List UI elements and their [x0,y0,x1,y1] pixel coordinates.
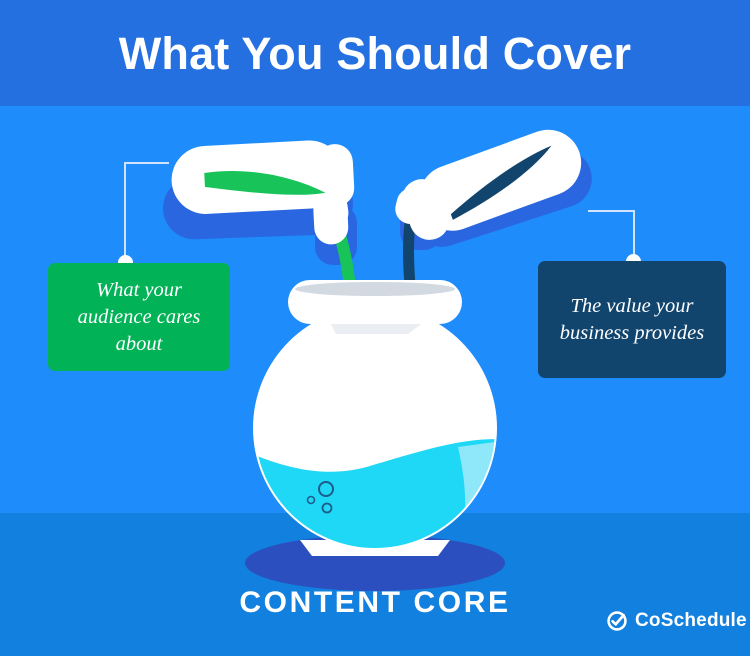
callout-business-value-label: The value your business provides [550,293,714,347]
callout-business-value[interactable]: The value your business provides [538,261,726,378]
connector-right-horizontal [588,210,635,212]
flask-opening [295,282,455,296]
coschedule-wordmark: CoSchedule [635,610,747,632]
connector-left-vertical [124,162,126,262]
coschedule-logo[interactable]: CoSchedule [606,610,747,632]
flask [250,280,510,570]
connector-right-vertical [633,210,635,260]
infographic-canvas: What You Should Cover [0,0,750,656]
callout-audience[interactable]: What your audience cares about [48,263,230,371]
connector-left-horizontal [124,162,169,164]
callout-audience-label: What your audience cares about [60,277,218,358]
check-circle-icon [606,610,628,632]
